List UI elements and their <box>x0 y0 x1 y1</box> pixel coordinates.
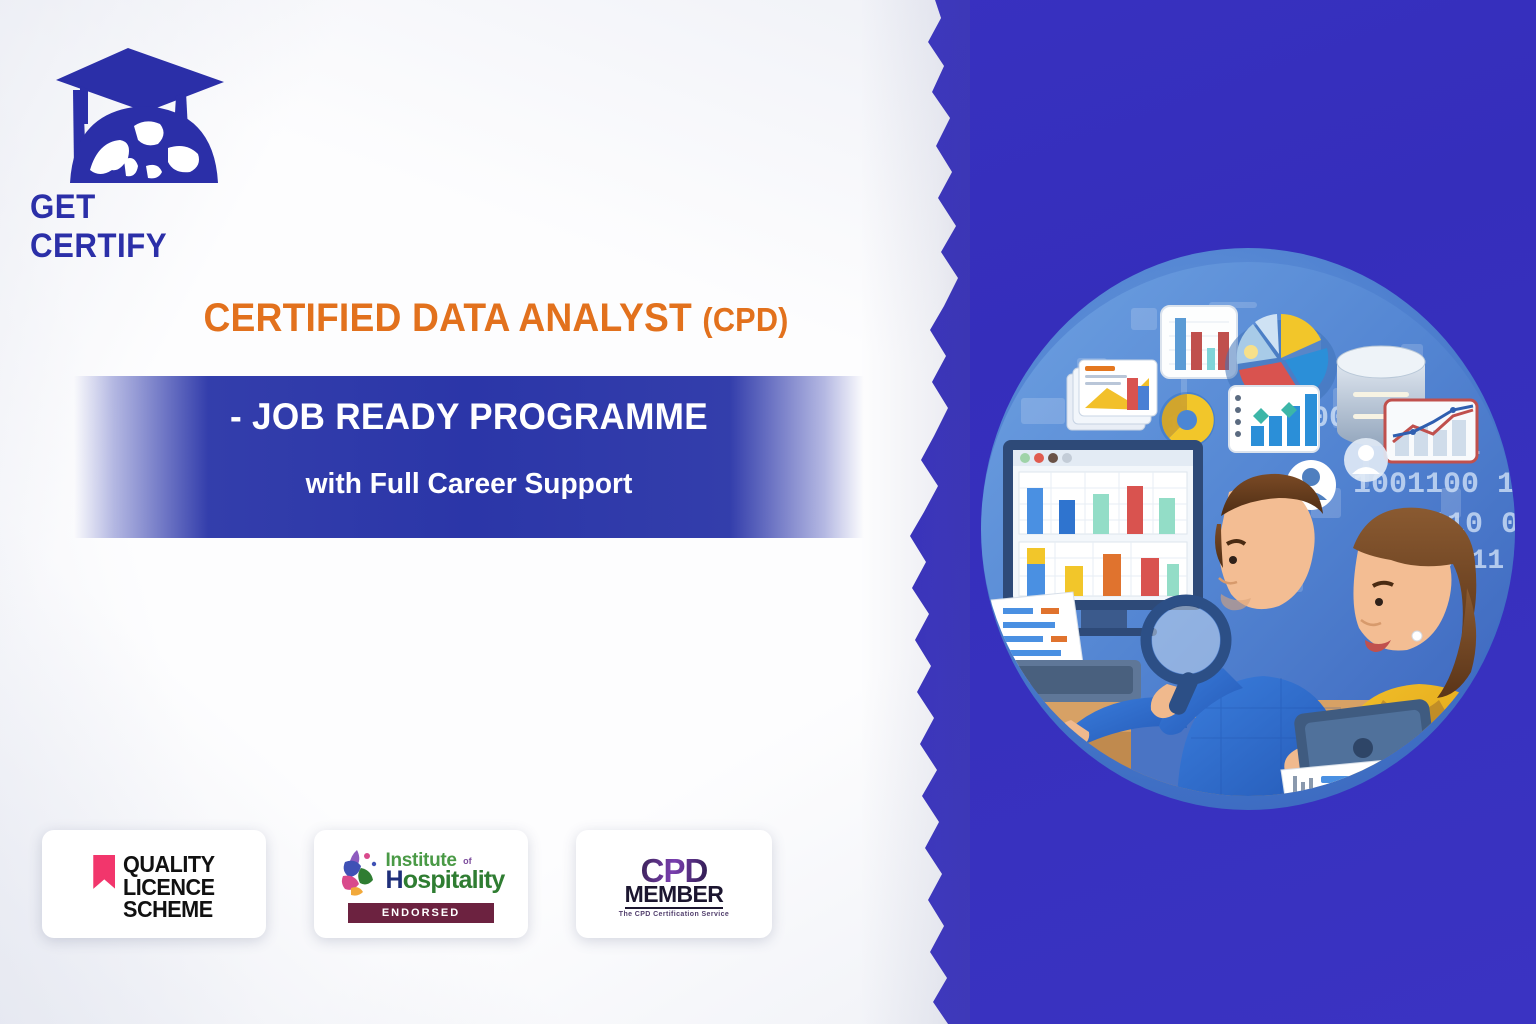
data-analysts-illustration: 001 10 11 1001100 11 0110 0 0011 10 <box>981 248 1515 810</box>
line-chart-card-icon <box>1385 400 1477 462</box>
ioh-endorsed-ribbon: ENDORSED <box>348 903 494 923</box>
band-line-secondary: with Full Career Support <box>86 468 852 501</box>
headline-block: CERTIFIED DATA ANALYST (CPD) - JOB READY… <box>0 296 940 341</box>
hospitality-splash-icon <box>337 846 383 898</box>
ascending-bar-chart-card-icon <box>1229 386 1319 452</box>
headline-band: - JOB READY PROGRAMME with Full Career S… <box>74 376 864 538</box>
page-title: CERTIFIED DATA ANALYST (CPD) <box>33 296 907 341</box>
cpd-member-text: MEMBER <box>625 883 724 909</box>
promo-banner: GET CERTIFY CERTIFIED DATA ANALYST (CPD)… <box>0 0 1536 1024</box>
bookmark-ribbon-icon <box>93 855 115 889</box>
badge-cpd-member[interactable]: CPD MEMBER The CPD Certification Service <box>576 830 772 938</box>
band-line-primary: - JOB READY PROGRAMME <box>94 396 845 438</box>
qls-line-3: SCHEME <box>123 898 215 921</box>
donut-chart-icon <box>1159 392 1215 448</box>
brand-logo[interactable]: GET CERTIFY <box>28 38 258 228</box>
ioh-word-hospitality: ospitality <box>403 866 505 894</box>
badge-quality-licence-scheme[interactable]: QUALITY LICENCE SCHEME <box>42 830 266 938</box>
qls-line-2: LICENCE <box>123 876 215 899</box>
ioh-word-of: of <box>463 856 472 866</box>
graduation-cap-globe-icon <box>56 48 224 183</box>
badge-institute-of-hospitality[interactable]: Institute of Hospitality ENDORSED <box>314 830 528 938</box>
accreditation-badges: QUALITY LICENCE SCHEME <box>42 830 772 938</box>
earring <box>1412 631 1422 641</box>
brand-logo-text: GET CERTIFY <box>30 188 240 266</box>
page-title-text: CERTIFIED DATA ANALYST <box>203 296 691 340</box>
page-title-suffix: (CPD) <box>702 301 788 338</box>
qls-line-1: QUALITY <box>123 853 215 876</box>
stacked-documents-icon <box>1067 360 1157 430</box>
cpd-subtitle: The CPD Certification Service <box>619 911 729 918</box>
ioh-word-h: H <box>385 866 402 894</box>
